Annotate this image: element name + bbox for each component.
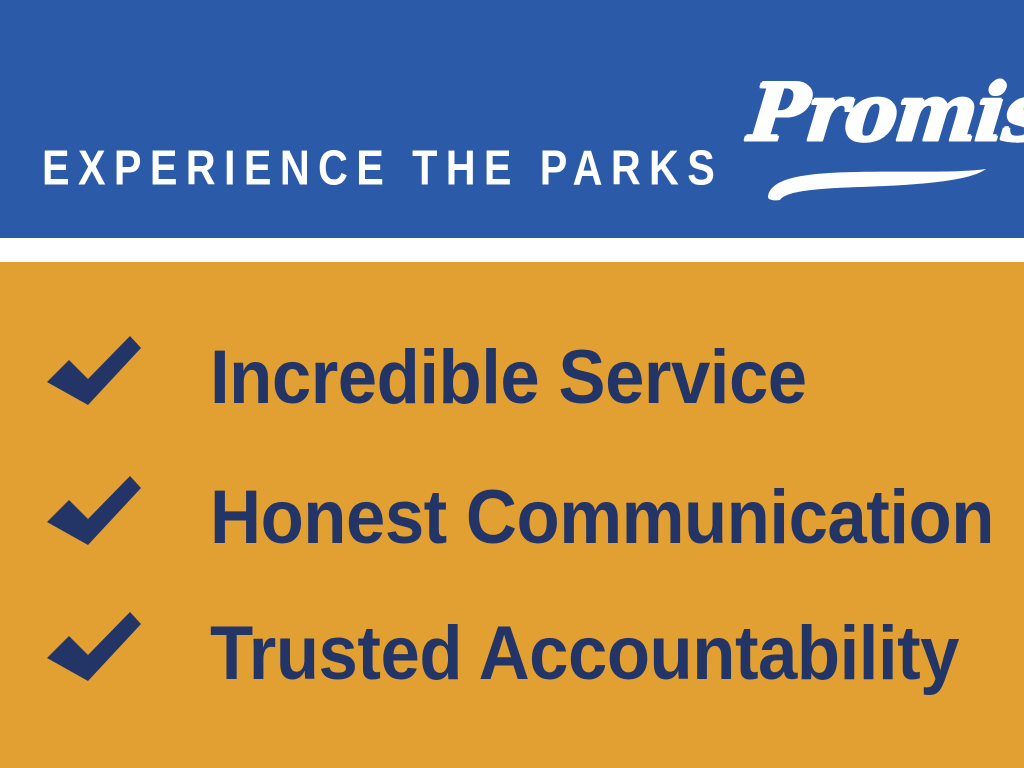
header-band: EXPERIENCE THE PARKS Promise: [0, 0, 1024, 238]
list-item: Trusted Accountability: [0, 594, 1024, 714]
divider-band: [0, 238, 1024, 262]
checkmark-icon: [44, 472, 144, 564]
list-item: Honest Communication: [0, 458, 1024, 578]
promise-item-label: Honest Communication: [210, 480, 994, 556]
promise-poster: EXPERIENCE THE PARKS Promise Incredible …: [0, 0, 1024, 768]
promise-list: Incredible Service Honest Communication …: [0, 262, 1024, 768]
promise-item-label: Incredible Service: [210, 340, 807, 416]
promise-item-label: Trusted Accountability: [210, 616, 959, 692]
promise-band: Incredible Service Honest Communication …: [0, 262, 1024, 768]
list-item: Incredible Service: [0, 318, 1024, 438]
checkmark-icon: [44, 332, 144, 424]
checkmark-icon: [44, 608, 144, 700]
script-underline-swash-icon: [760, 167, 992, 201]
script-promise-text: Promise: [746, 74, 1024, 154]
headline-text: EXPERIENCE THE PARKS: [42, 143, 723, 196]
script-promise-wordmark: Promise: [754, 74, 994, 199]
